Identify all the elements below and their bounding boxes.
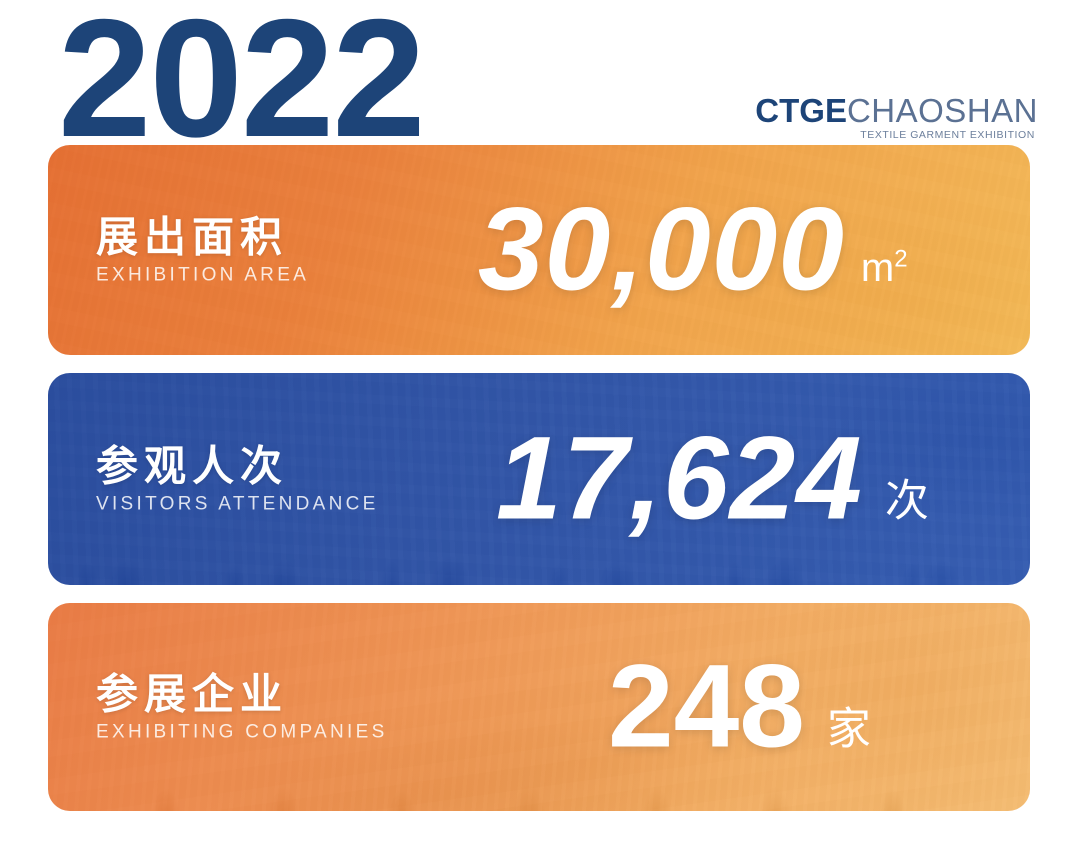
stat-value-group: 248 家 xyxy=(608,653,871,762)
logo-mark-ctge: CTGE xyxy=(755,94,847,127)
stat-unit: m2 xyxy=(861,248,908,304)
stat-label-en: EXHIBITING COMPANIES xyxy=(96,722,388,744)
stat-unit-text: m xyxy=(861,246,894,290)
stat-label-en: EXHIBITION AREA xyxy=(96,265,309,287)
stat-unit: 次 xyxy=(885,479,929,533)
stat-label-cn: 参展企业 xyxy=(96,670,388,717)
stat-card-visitors-attendance: 参观人次 VISITORS ATTENDANCE 17,624 次 xyxy=(48,373,1030,585)
stat-label-cn: 展出面积 xyxy=(96,213,309,260)
stat-label-group: 参观人次 VISITORS ATTENDANCE xyxy=(96,442,379,515)
page-title-year: 2022 xyxy=(58,0,424,162)
logo-tagline: TEXTILE GARMENT EXHIBITION xyxy=(860,129,1038,141)
stat-value: 17,624 xyxy=(496,425,863,534)
card-content: 展出面积 EXHIBITION AREA 30,000 m2 xyxy=(48,145,1030,355)
stat-value-group: 30,000 m2 xyxy=(478,196,908,305)
card-content: 参观人次 VISITORS ATTENDANCE 17,624 次 xyxy=(48,373,1030,585)
logo-wordmark-row: CTGE CHAOSHAN xyxy=(755,94,1038,127)
stat-value: 30,000 xyxy=(478,196,845,305)
stat-card-exhibition-area: 展出面积 EXHIBITION AREA 30,000 m2 xyxy=(48,145,1030,355)
ctge-logo: CTGE CHAOSHAN TEXTILE GARMENT EXHIBITION xyxy=(755,94,1038,141)
stat-label-group: 展出面积 EXHIBITION AREA xyxy=(96,213,309,286)
card-content: 参展企业 EXHIBITING COMPANIES 248 家 xyxy=(48,603,1030,811)
stat-value-group: 17,624 次 xyxy=(496,425,929,534)
stat-unit-superscript: 2 xyxy=(894,246,907,273)
stat-unit: 家 xyxy=(827,707,871,761)
stat-label-en: VISITORS ATTENDANCE xyxy=(96,494,379,516)
header: 2022 CTGE CHAOSHAN TEXTILE GARMENT EXHIB… xyxy=(0,0,1080,150)
stat-card-exhibiting-companies: 参展企业 EXHIBITING COMPANIES 248 家 xyxy=(48,603,1030,811)
stat-label-cn: 参观人次 xyxy=(96,442,379,489)
stat-value: 248 xyxy=(608,653,805,762)
stat-label-group: 参展企业 EXHIBITING COMPANIES xyxy=(96,670,388,743)
logo-name-chaoshan: CHAOSHAN xyxy=(847,94,1038,127)
